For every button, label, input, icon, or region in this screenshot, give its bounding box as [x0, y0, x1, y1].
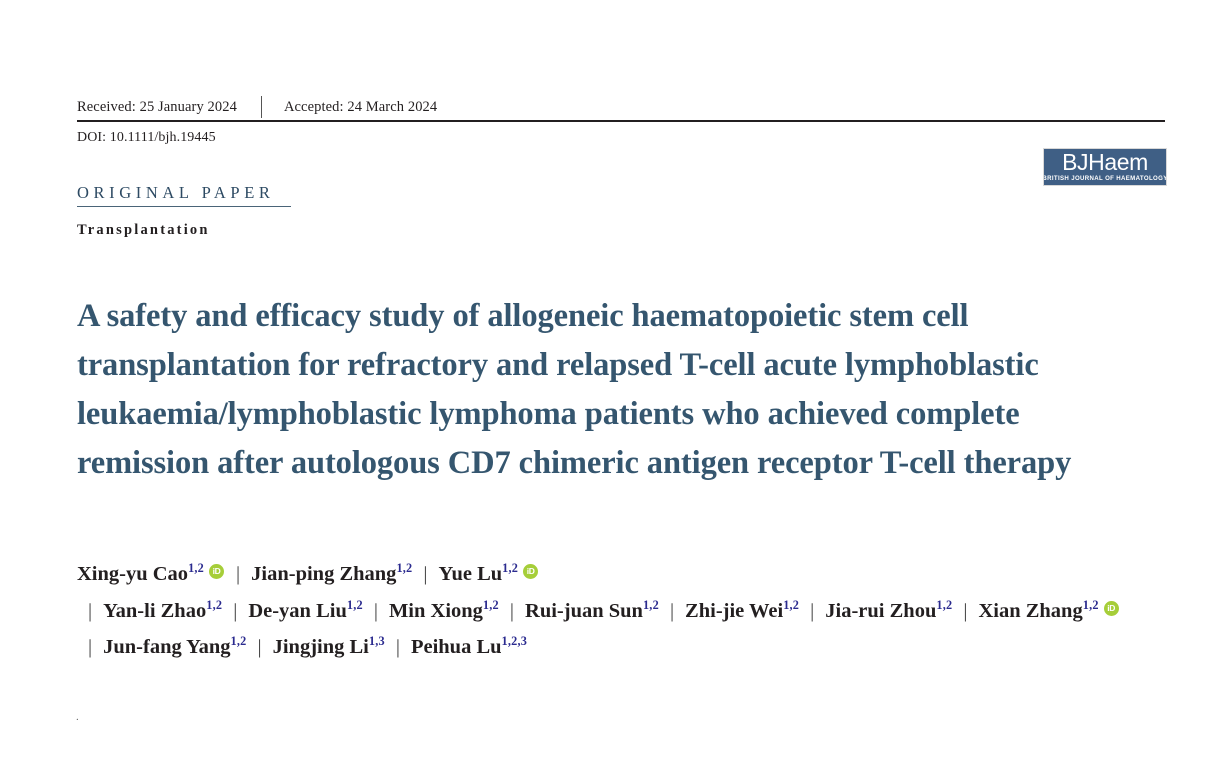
- author-separator: |: [363, 600, 389, 622]
- accepted-date: Accepted: 24 March 2024: [284, 99, 437, 116]
- author-affiliation-marker: 1,3: [369, 634, 385, 648]
- author-name[interactable]: De-yan Liu1,2: [248, 600, 363, 622]
- author-name[interactable]: Rui-juan Sun1,2: [525, 600, 659, 622]
- received-date: Received: 25 January 2024: [77, 99, 237, 116]
- footnote-mark: .: [76, 712, 79, 722]
- article-type-rule: [77, 206, 291, 207]
- author-affiliation-marker: 1,2: [502, 561, 518, 575]
- author-name[interactable]: Jun-fang Yang1,2: [103, 636, 246, 658]
- author-separator: |: [225, 563, 251, 585]
- author-name[interactable]: Yue Lu1,2: [439, 563, 540, 585]
- date-divider: [261, 96, 262, 118]
- author-affiliation-marker: 1,2,3: [502, 634, 528, 648]
- header-rule: [77, 120, 1165, 122]
- article-page: Received: 25 January 2024 Accepted: 24 M…: [0, 0, 1224, 778]
- author-affiliation-marker: 1,2: [231, 634, 247, 648]
- author-affiliation-marker: 1,2: [206, 598, 222, 612]
- author-separator: |: [77, 636, 103, 658]
- author-separator: |: [412, 563, 438, 585]
- section-topic-label: Transplantation: [77, 222, 210, 239]
- author-separator: |: [952, 600, 978, 622]
- author-separator: |: [499, 600, 525, 622]
- journal-logo-tagline: BRITISH JOURNAL OF HAEMATOLOGY: [1043, 175, 1167, 183]
- author-affiliation-marker: 1,2: [783, 598, 799, 612]
- author-separator: |: [222, 600, 248, 622]
- author-name[interactable]: Peihua Lu1,2,3: [411, 636, 527, 658]
- author-name[interactable]: Xian Zhang1,2: [978, 600, 1119, 622]
- author-name[interactable]: Jian-ping Zhang1,2: [251, 563, 412, 585]
- author-affiliation-marker: 1,2: [936, 598, 952, 612]
- author-affiliation-marker: 1,2: [483, 598, 499, 612]
- journal-logo: BJHaem BRITISH JOURNAL OF HAEMATOLOGY: [1043, 148, 1167, 186]
- author-list: Xing-yu Cao1,2|Jian-ping Zhang1,2|Yue Lu…: [77, 556, 1147, 666]
- author-separator: |: [799, 600, 825, 622]
- page-title: A safety and efficacy study of allogenei…: [77, 292, 1137, 488]
- author-name[interactable]: Jingjing Li1,3: [273, 636, 385, 658]
- author-affiliation-marker: 1,2: [347, 598, 363, 612]
- author-separator: |: [659, 600, 685, 622]
- author-name[interactable]: Zhi-jie Wei1,2: [685, 600, 799, 622]
- author-name[interactable]: Min Xiong1,2: [389, 600, 499, 622]
- author-separator: |: [77, 600, 103, 622]
- author-separator: |: [385, 636, 411, 658]
- author-affiliation-marker: 1,2: [1083, 598, 1099, 612]
- author-name[interactable]: Yan-li Zhao1,2: [103, 600, 222, 622]
- article-type-label: ORIGINAL PAPER: [77, 183, 275, 203]
- doi-text: DOI: 10.1111/bjh.19445: [77, 130, 216, 146]
- author-name[interactable]: Jia-rui Zhou1,2: [825, 600, 952, 622]
- orcid-icon[interactable]: [523, 564, 538, 579]
- author-name[interactable]: Xing-yu Cao1,2: [77, 563, 225, 585]
- orcid-icon[interactable]: [209, 564, 224, 579]
- author-affiliation-marker: 1,2: [643, 598, 659, 612]
- journal-logo-name: BJHaem: [1062, 151, 1148, 174]
- author-separator: |: [247, 636, 273, 658]
- author-affiliation-marker: 1,2: [188, 561, 204, 575]
- orcid-icon[interactable]: [1104, 601, 1119, 616]
- publication-dates: Received: 25 January 2024 Accepted: 24 M…: [77, 96, 437, 118]
- author-affiliation-marker: 1,2: [396, 561, 412, 575]
